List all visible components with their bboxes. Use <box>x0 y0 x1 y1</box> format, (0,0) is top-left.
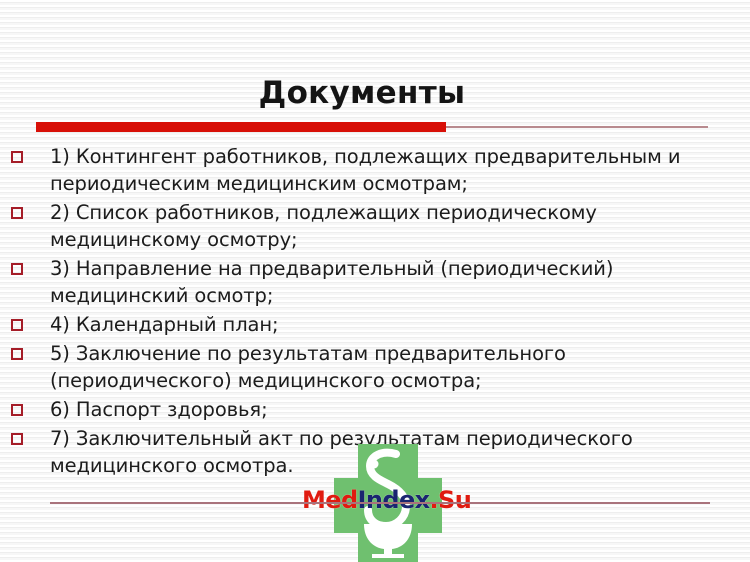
list-item-label: 4) Календарный план; <box>50 311 738 338</box>
list-item: 1) Контингент работников, подлежащих пре… <box>0 143 750 197</box>
list-item-label: 5) Заключение по результатам предварител… <box>50 340 738 394</box>
list-item-label: 3) Направление на предварительный (перио… <box>50 255 738 309</box>
square-bullet-icon <box>11 207 23 219</box>
square-bullet-icon <box>11 348 23 360</box>
square-bullet-icon <box>11 151 23 163</box>
documents-list: 1) Контингент работников, подлежащих пре… <box>0 143 750 481</box>
divider-thick-bar <box>36 122 446 132</box>
brand-part-dot: . <box>430 486 439 514</box>
list-item: 2) Список работников, подлежащих периоди… <box>0 199 750 253</box>
square-bullet-icon <box>11 433 23 445</box>
list-item-label: 6) Паспорт здоровья; <box>50 396 738 423</box>
brand-part-index: Index <box>358 486 430 514</box>
square-bullet-icon <box>11 319 23 331</box>
slide-canvas: Документы 1) Контингент работников, подл… <box>0 0 750 562</box>
square-bullet-icon <box>11 263 23 275</box>
list-item-label: 2) Список работников, подлежащих периоди… <box>50 199 738 253</box>
list-item-label: 1) Контингент работников, подлежащих пре… <box>50 143 738 197</box>
list-item: 5) Заключение по результатам предварител… <box>0 340 750 394</box>
title-divider <box>36 122 708 132</box>
list-item: 6) Паспорт здоровья; <box>0 396 750 423</box>
page-title: Документы <box>0 74 724 112</box>
bottom-divider-line <box>50 502 710 504</box>
list-item: 4) Календарный план; <box>0 311 750 338</box>
list-item: 3) Направление на предварительный (перио… <box>0 255 750 309</box>
brand-part-med: Med <box>302 486 358 514</box>
brand-part-su: Su <box>438 486 471 514</box>
square-bullet-icon <box>11 404 23 416</box>
watermark-brand-text: MedIndex.Su <box>302 486 462 514</box>
